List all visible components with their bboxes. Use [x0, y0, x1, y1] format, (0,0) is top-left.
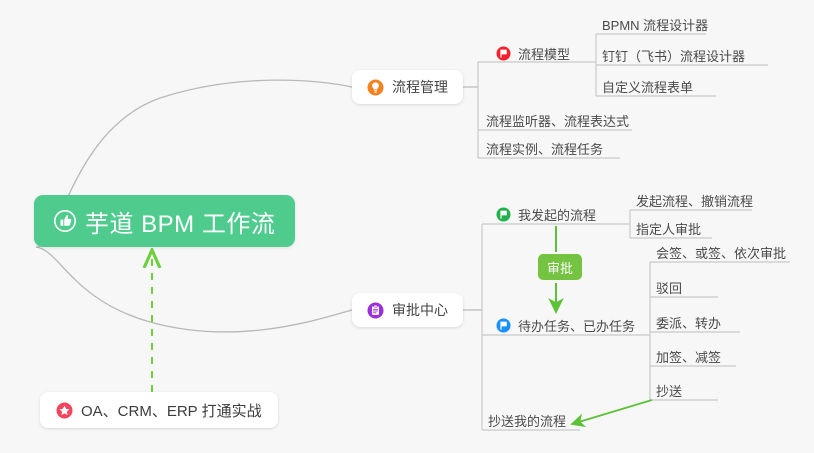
- label-bpmn-designer: BPMN 流程设计器: [602, 15, 708, 34]
- label-assignee-approval: 指定人审批: [636, 219, 701, 238]
- root-node[interactable]: 芋道 BPM 工作流: [34, 195, 295, 247]
- branch-label-approval-center: 审批中心: [392, 300, 448, 320]
- arrow-cc-to-my-process: [572, 400, 652, 424]
- node-todo-done-task[interactable]: 待办任务、已办任务: [494, 312, 641, 338]
- label-cc-to-me-process: 抄送我的流程: [488, 411, 566, 430]
- root-label: 芋道 BPM 工作流: [85, 204, 275, 239]
- branch-node-process-management[interactable]: 流程管理: [352, 70, 463, 104]
- node-countersign-or-sequential[interactable]: 会签、或签、依次审批: [654, 239, 792, 265]
- branch-node-approval-center[interactable]: 审批中心: [352, 293, 463, 327]
- label-process-model: 流程模型: [518, 44, 570, 63]
- label-my-initiated-process: 我发起的流程: [518, 205, 596, 224]
- floating-note-label: OA、CRM、ERP 打通实战: [81, 400, 262, 421]
- label-countersign-or-sequential: 会签、或签、依次审批: [656, 243, 786, 262]
- label-add-remove-sign: 加签、减签: [656, 347, 721, 366]
- node-process-instance-task[interactable]: 流程实例、流程任务: [484, 135, 609, 161]
- node-cc-to-me-process[interactable]: 抄送我的流程: [486, 407, 572, 433]
- label-reject: 驳回: [656, 278, 682, 297]
- node-cc[interactable]: 抄送: [654, 377, 688, 403]
- node-delegate-transfer[interactable]: 委派、转办: [654, 309, 727, 335]
- thumbs-up-icon: [54, 210, 76, 232]
- node-add-remove-sign[interactable]: 加签、减签: [654, 343, 727, 369]
- node-dingtalk-feishu-designer[interactable]: 钉钉（飞书）流程设计器: [600, 42, 751, 68]
- flag-icon-blue: [496, 318, 511, 333]
- mindmap-canvas: 芋道 BPM 工作流 OA、CRM、ERP 打通实战 流程管理: [0, 0, 814, 453]
- wire-root-to-approval-center: [36, 247, 352, 332]
- label-process-instance-task: 流程实例、流程任务: [486, 139, 603, 158]
- node-process-model[interactable]: 流程模型: [494, 40, 576, 66]
- node-process-listener-expression[interactable]: 流程监听器、流程表达式: [484, 107, 635, 133]
- clipboard-icon: [367, 302, 384, 319]
- label-todo-done-task: 待办任务、已办任务: [518, 316, 635, 335]
- node-bpmn-designer[interactable]: BPMN 流程设计器: [600, 11, 714, 37]
- label-dingtalk-feishu-designer: 钉钉（飞书）流程设计器: [602, 46, 745, 65]
- lightbulb-icon: [367, 79, 384, 96]
- label-cc: 抄送: [656, 381, 682, 400]
- approval-tag-label: 审批: [547, 258, 573, 277]
- flag-icon-red: [496, 46, 511, 61]
- star-icon: [56, 402, 73, 419]
- approval-tag[interactable]: 审批: [538, 254, 582, 280]
- label-custom-process-form: 自定义流程表单: [602, 77, 693, 96]
- node-start-cancel-process[interactable]: 发起流程、撤销流程: [634, 187, 759, 213]
- node-assignee-approval[interactable]: 指定人审批: [634, 215, 707, 241]
- floating-note-node[interactable]: OA、CRM、ERP 打通实战: [40, 392, 278, 428]
- branch-label-process-management: 流程管理: [392, 77, 448, 97]
- node-reject[interactable]: 驳回: [654, 274, 688, 300]
- flag-icon-green: [496, 207, 511, 222]
- label-process-listener-expression: 流程监听器、流程表达式: [486, 111, 629, 130]
- label-delegate-transfer: 委派、转办: [656, 313, 721, 332]
- node-my-initiated-process[interactable]: 我发起的流程: [494, 201, 602, 227]
- label-start-cancel-process: 发起流程、撤销流程: [636, 191, 753, 210]
- node-custom-process-form[interactable]: 自定义流程表单: [600, 73, 699, 99]
